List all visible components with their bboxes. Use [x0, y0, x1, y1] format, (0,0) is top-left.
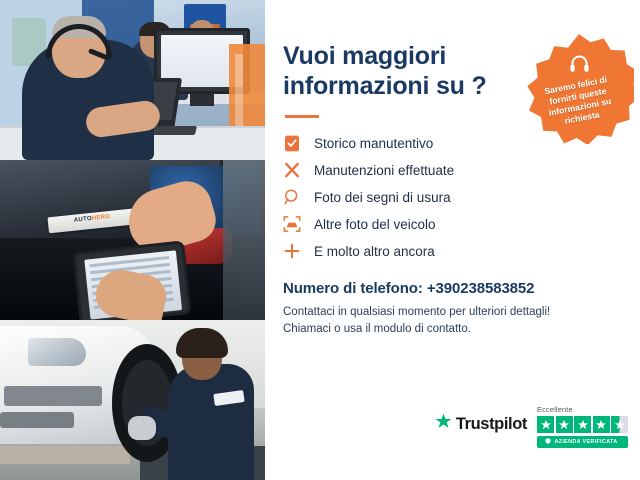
trustpilot-stars	[537, 416, 628, 433]
magnifier-icon	[283, 188, 301, 206]
list-item-label: Manutenzioni effettuate	[314, 163, 454, 178]
verified-company-label: AZIENDA VERIFICATA	[554, 439, 617, 445]
trustpilot-rating-block: Eccellente AZIENDA VERIFICATA	[537, 405, 628, 448]
contact-subtext-line-2: Chiamaci o usa il modulo di contatto.	[283, 321, 616, 338]
autohero-logo: AUTOHERO	[74, 214, 111, 224]
checklist-icon	[283, 134, 301, 152]
feature-list: Storico manutentivo Manutenzioni effettu…	[283, 134, 616, 260]
trustpilot-logo: Trustpilot	[435, 405, 527, 435]
star-half	[611, 416, 628, 433]
phone-label: Numero di telefono:	[283, 280, 427, 297]
background-right-decor	[223, 160, 265, 320]
trustpilot-star-icon	[435, 413, 452, 435]
star-full	[556, 416, 573, 433]
page-title: Vuoi maggiori informazioni su ?	[283, 42, 513, 101]
call-center-photo	[0, 0, 265, 160]
headlight-decor	[28, 338, 86, 366]
mechanic-glove-decor	[128, 416, 156, 440]
star-full	[537, 416, 554, 433]
phone-line: Numero di telefono: +390238583852	[283, 280, 616, 297]
phone-number[interactable]: +390238583852	[427, 280, 535, 297]
contact-subtext: Contattaci in qualsiasi momento per ulte…	[283, 304, 616, 339]
star-full	[574, 416, 591, 433]
vehicle-inspection-photo: AUTOHERO	[0, 160, 265, 320]
list-item-label: Foto dei segni di usura	[314, 190, 451, 205]
trustpilot-name: Trustpilot	[456, 415, 527, 434]
availability-badge: Saremo felici di fornirti queste informa…	[524, 34, 634, 144]
verified-company-badge: AZIENDA VERIFICATA	[537, 436, 628, 448]
shield-check-icon	[545, 438, 551, 446]
list-item: Manutenzioni effettuate	[283, 161, 616, 179]
car-scan-icon	[283, 215, 301, 233]
photo-column: AUTOHERO	[0, 0, 265, 480]
lower-grille-decor	[0, 412, 74, 428]
star-full	[593, 416, 610, 433]
list-item-label: Storico manutentivo	[314, 136, 433, 151]
list-item: E molto altro ancora	[283, 242, 616, 260]
list-item: Altre foto del veicolo	[283, 215, 616, 233]
monitor-stand-decor	[190, 94, 214, 106]
list-item: Foto dei segni di usura	[283, 188, 616, 206]
list-item-label: E molto altro ancora	[314, 244, 435, 259]
plus-icon	[283, 242, 301, 260]
availability-badge-text: Saremo felici di fornirti queste informa…	[533, 72, 626, 132]
promo-banner: AUTOHERO Vuoi maggiori informazioni	[0, 0, 640, 480]
list-item-label: Altre foto del veicolo	[314, 217, 436, 232]
workshop-wheel-photo	[0, 320, 265, 480]
tools-icon	[283, 161, 301, 179]
trustpilot-widget[interactable]: Trustpilot Eccellente AZIENDA VERIFICATA	[435, 405, 628, 448]
lift-platform-decor	[0, 446, 130, 464]
headset-icon	[569, 54, 590, 78]
content-panel: Vuoi maggiori informazioni su ? Storico …	[265, 0, 640, 480]
contact-subtext-line-1: Contattaci in qualsiasi momento per ulte…	[283, 304, 616, 321]
trustpilot-rating-label: Eccellente	[537, 405, 573, 414]
grille-decor	[4, 386, 102, 406]
title-divider	[285, 115, 319, 118]
